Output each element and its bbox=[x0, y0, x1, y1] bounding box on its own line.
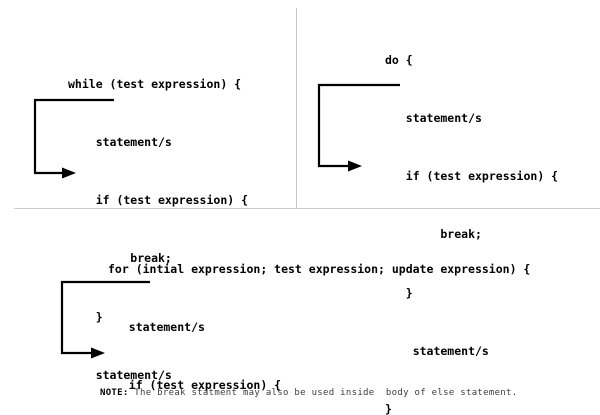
note-text: NOTE: The break statment may also be use… bbox=[100, 388, 517, 398]
note-label: NOTE: bbox=[100, 388, 129, 398]
note-body: The break statment may also be used insi… bbox=[129, 388, 518, 398]
for-loop-break-flow-arrow bbox=[0, 0, 600, 415]
break-statement-diagram: while (test expression) { statement/s if… bbox=[0, 0, 600, 415]
